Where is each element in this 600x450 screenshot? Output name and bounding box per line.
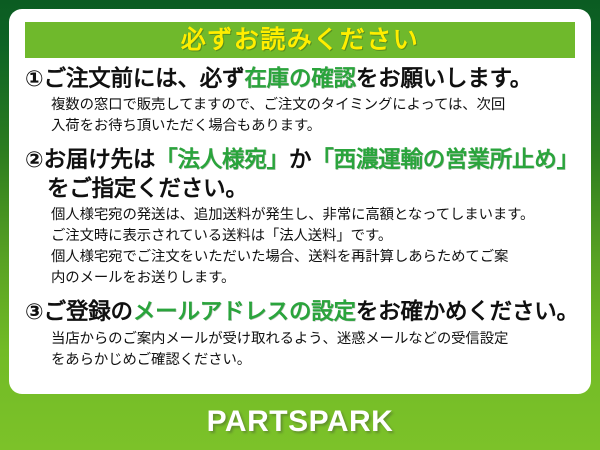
notice-item-3-heading-part-3: をお確かめください。 (356, 299, 579, 324)
notice-item-2-heading-highlight-1: 「法人様宛」 (155, 147, 289, 172)
notice-item-2-body-line-4: 内のメールをお送りします。 (51, 268, 575, 289)
notice-item-2: ②お届け先は「法人様宛」か「西濃運輸の営業所止め」 をご指定ください。 個人様宅… (25, 146, 575, 289)
notice-item-1-body: 複数の窓口で販売してますので、ご注文のタイミングによっては、次回 入荷をお待ち頂… (25, 93, 575, 137)
notice-item-3-heading: ③ご登録のメールアドレスの設定をお確かめください。 (25, 298, 575, 326)
brand-wordmark: PARTSPARK (207, 405, 394, 439)
notice-item-2-heading-line-2: をご指定ください。 (25, 175, 575, 203)
notice-item-3-marker: ③ (25, 299, 44, 324)
notice-item-1-heading-part-3: をお願いします。 (356, 66, 532, 91)
header-title: 必ずお読みください (181, 28, 420, 53)
notice-item-1-heading: ①ご注文前には、必ず在庫の確認をお願いします。 (25, 65, 575, 93)
notice-item-1-body-line-2: 入荷をお待ち頂いただく場合もあります。 (51, 116, 575, 137)
notice-item-2-heading-part-1: お届け先は (44, 147, 156, 172)
notice-item-2-heading-highlight-2: 「西濃運輸の営業所止め」 (311, 147, 579, 172)
notice-card: 必ずお読みください ①ご注文前には、必ず在庫の確認をお願いします。 複数の窓口で… (9, 9, 591, 394)
notice-item-2-heading-part-3: か (289, 147, 311, 172)
notice-item-1-marker: ① (25, 66, 44, 91)
notice-item-3-heading-part-1: ご登録の (44, 299, 133, 324)
header-bar: 必ずお読みください (25, 22, 575, 58)
notice-item-2-heading: ②お届け先は「法人様宛」か「西濃運輸の営業所止め」 (25, 146, 575, 174)
notice-item-3-heading-highlight: メールアドレスの設定 (133, 299, 356, 324)
notice-item-2-body-line-1: 個人様宅宛の発送は、追加送料が発生し、非常に高額となってしまいます。 (51, 205, 575, 226)
notice-banner: 必ずお読みください ①ご注文前には、必ず在庫の確認をお願いします。 複数の窓口で… (0, 0, 600, 450)
notice-item-3-body-line-2: をあらかじめご確認ください。 (51, 350, 575, 371)
notice-item-3-body: 当店からのご案内メールが受け取れるよう、迷惑メールなどの受信設定 をあらかじめご… (25, 327, 575, 371)
notice-items-list: ①ご注文前には、必ず在庫の確認をお願いします。 複数の窓口で販売してますので、ご… (25, 58, 575, 371)
notice-item-1-body-line-1: 複数の窓口で販売してますので、ご注文のタイミングによっては、次回 (51, 95, 575, 116)
notice-item-1-heading-part-1: ご注文前には、必ず (44, 66, 245, 91)
notice-item-3: ③ご登録のメールアドレスの設定をお確かめください。 当店からのご案内メールが受け… (25, 298, 575, 370)
notice-item-2-body-line-2: ご注文時に表示されている送料は「法人送料」です。 (51, 226, 575, 247)
notice-item-1: ①ご注文前には、必ず在庫の確認をお願いします。 複数の窓口で販売してますので、ご… (25, 65, 575, 137)
notice-item-3-body-line-1: 当店からのご案内メールが受け取れるよう、迷惑メールなどの受信設定 (51, 329, 575, 350)
footer-brand-bar: PARTSPARK (0, 394, 600, 450)
notice-item-1-heading-highlight: 在庫の確認 (244, 66, 356, 91)
notice-item-2-body: 個人様宅宛の発送は、追加送料が発生し、非常に高額となってしまいます。 ご注文時に… (25, 203, 575, 289)
notice-item-2-marker: ② (25, 147, 44, 172)
notice-item-2-body-line-3: 個人様宅宛でご注文をいただいた場合、送料を再計算しあらためてご案 (51, 247, 575, 268)
